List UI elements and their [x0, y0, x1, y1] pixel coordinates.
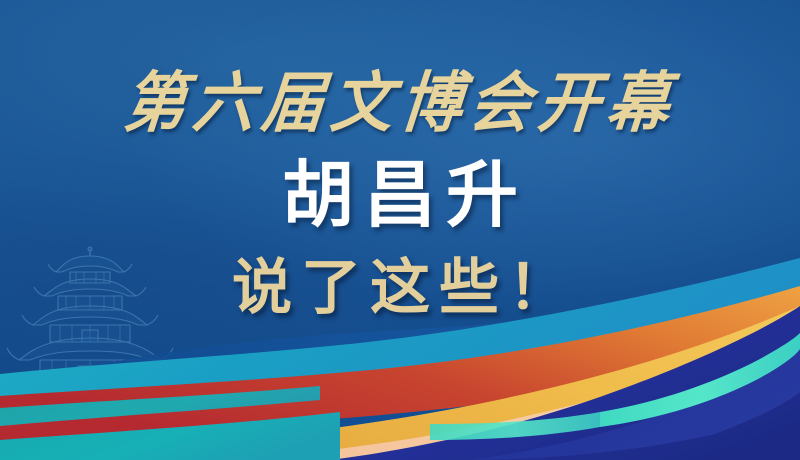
headline-calligraphy: 第六届文博会开幕 [0, 70, 800, 136]
poster-canvas: 第六届文博会开幕 胡昌升 说了这些！ [0, 0, 800, 460]
subject-name: 胡昌升 [0, 160, 800, 232]
kicker-text: 说了这些！ [0, 258, 800, 318]
headline-stack: 第六届文博会开幕 胡昌升 说了这些！ [0, 0, 800, 318]
